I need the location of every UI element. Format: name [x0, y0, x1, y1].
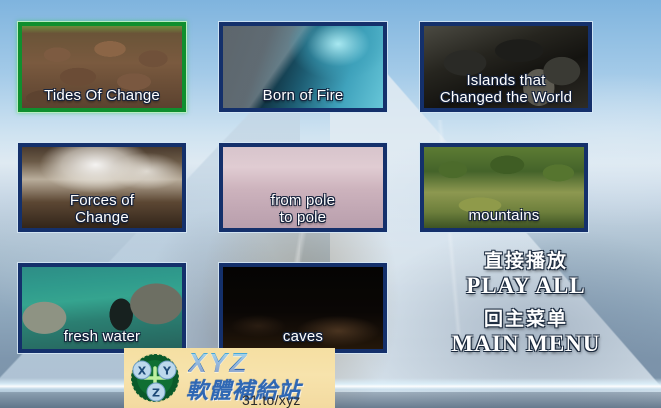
chapter-tile-caves[interactable]: caves	[219, 263, 387, 353]
chapter-tile-label-line2: Changed the World	[424, 89, 588, 106]
chapter-tile-fresh-water[interactable]: fresh water	[18, 263, 186, 353]
chapter-tile-mountains[interactable]: mountains	[420, 143, 588, 232]
play-all-button[interactable]: 直接播放 PLAY ALL	[420, 250, 632, 299]
svg-text:Y: Y	[162, 365, 172, 378]
play-all-label-english: PLAY ALL	[420, 273, 632, 299]
chapter-tile-label: Forces of Change	[22, 192, 182, 226]
chapter-tile-tides-of-change[interactable]: Tides Of Change	[18, 22, 186, 112]
dvd-menu-screen: Tides Of Change Born of Fire Islands tha…	[0, 0, 661, 408]
play-all-label-chinese: 直接播放	[420, 250, 632, 273]
chapter-tile-label-line1: Islands that	[424, 72, 588, 89]
chapter-tile-label: Born of Fire	[223, 87, 383, 104]
chapter-tile-born-of-fire[interactable]: Born of Fire	[219, 22, 387, 112]
chapter-tile-label: caves	[223, 328, 383, 345]
chapter-tile-label: fresh water	[22, 328, 182, 345]
chapter-tile-forces-of-change[interactable]: Forces of Change	[18, 143, 186, 232]
svg-text:Z: Z	[152, 387, 160, 400]
xyz-watermark: X Y Z XYZ 軟體補給站 31.to/xyz	[124, 348, 335, 408]
chapter-tile-label-line1: from pole	[223, 192, 383, 209]
chapter-tile-label: mountains	[424, 207, 584, 224]
svg-text:X: X	[138, 365, 147, 378]
watermark-url: 31.to/xyz	[242, 392, 301, 408]
chapter-tile-label-line2: Change	[22, 209, 182, 226]
xyz-logo-icon: X Y Z	[128, 351, 182, 405]
chapter-tile-label: Islands that Changed the World	[424, 72, 588, 106]
chapter-tile-label-line2: to pole	[223, 209, 383, 226]
chapter-tile-from-pole-to-pole[interactable]: from pole to pole	[219, 143, 387, 232]
main-menu-label-chinese: 回主菜单	[420, 308, 632, 331]
chapter-tile-label: from pole to pole	[223, 192, 383, 226]
chapter-tile-islands-that-changed-the-world[interactable]: Islands that Changed the World	[420, 22, 592, 112]
chapter-tile-label: Tides Of Change	[22, 87, 182, 104]
main-menu-button[interactable]: 回主菜单 MAIN MENU	[420, 308, 632, 357]
chapter-tile-label-line1: Forces of	[22, 192, 182, 209]
main-menu-label-english: MAIN MENU	[420, 331, 632, 357]
